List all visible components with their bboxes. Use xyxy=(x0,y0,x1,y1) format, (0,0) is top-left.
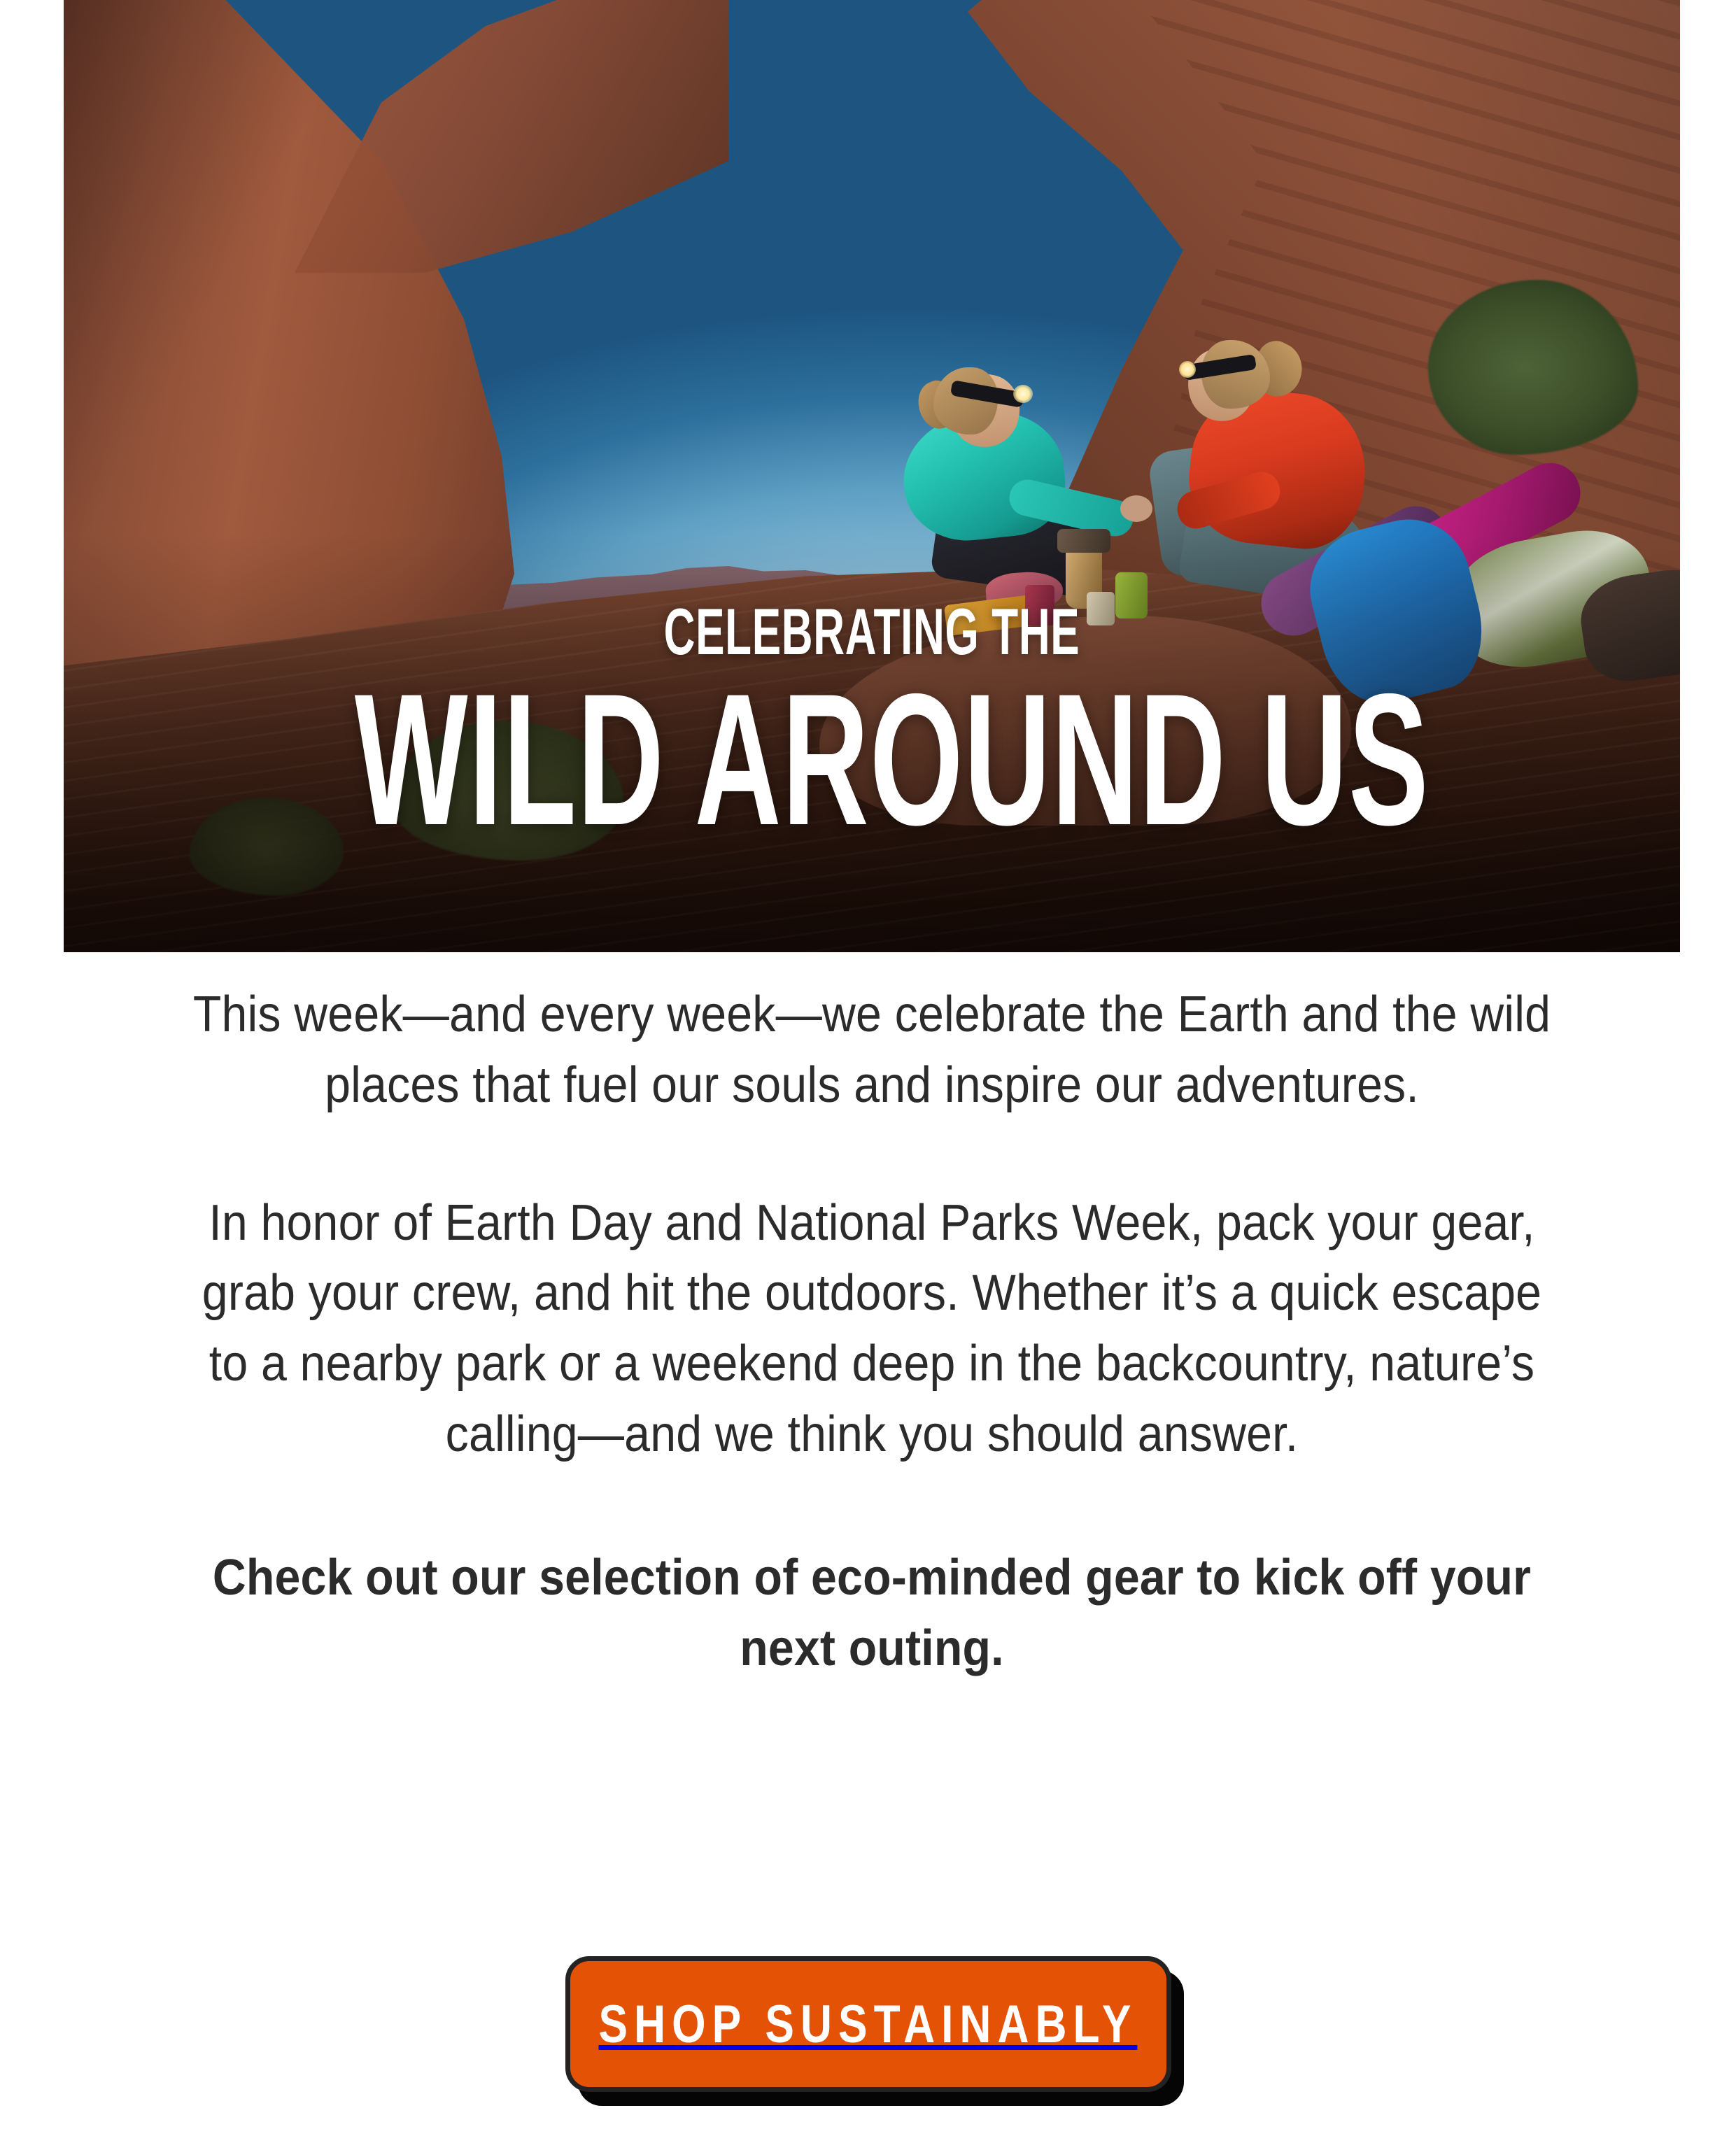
cta-label: SHOP SUSTAINABLY xyxy=(599,1994,1138,2055)
body-copy: This week—and every week—we celebrate th… xyxy=(64,979,1680,1683)
paragraph-2: In honor of Earth Day and National Parks… xyxy=(128,1188,1615,1470)
email-body: CELEBRATING THE WILD AROUND US This week… xyxy=(0,0,1736,2136)
paragraph-3-bold: Check out our selection of eco-minded ge… xyxy=(128,1543,1615,1684)
paragraph-1: This week—and every week—we celebrate th… xyxy=(128,979,1615,1121)
cta-zone: SHOP SUSTAINABLY xyxy=(0,1956,1736,2092)
hero-banner: CELEBRATING THE WILD AROUND US xyxy=(64,0,1680,952)
hero-copy: CELEBRATING THE WILD AROUND US xyxy=(64,599,1680,851)
hero-headline: WILD AROUND US xyxy=(355,667,1389,851)
shop-sustainably-button[interactable]: SHOP SUSTAINABLY xyxy=(565,1956,1171,2092)
cta-wrapper: SHOP SUSTAINABLY xyxy=(565,1956,1171,2092)
